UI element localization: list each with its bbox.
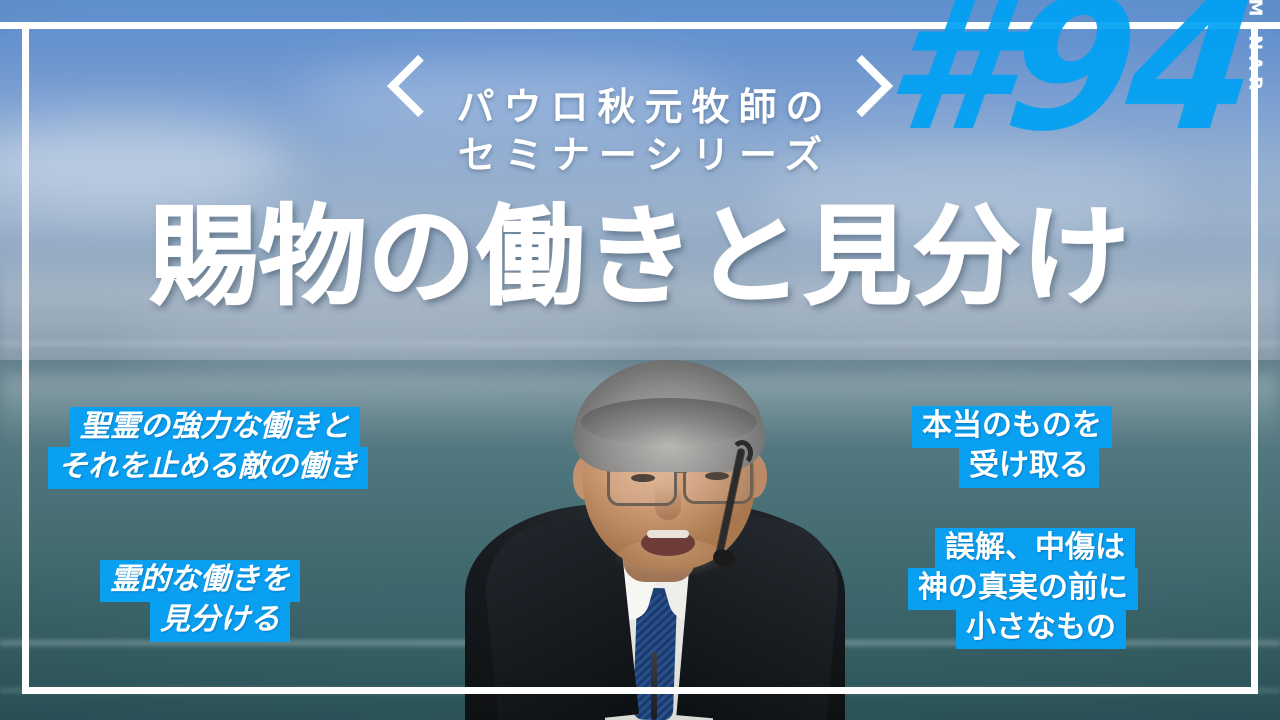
caption-spirit-work: 聖霊の強力な働きと それを止める敵の働き (70, 407, 368, 489)
caption-line: 本当のものを (912, 406, 1112, 448)
caption-line: 聖霊の強力な働きと (70, 407, 368, 449)
series-line-1: パウロ秋元牧師の (447, 84, 832, 132)
caption-line: 神の真実の前に (908, 568, 1138, 610)
angle-bracket-left-icon (383, 78, 421, 186)
series-title: パウロ秋元牧師の セミナーシリーズ (447, 84, 832, 180)
caption-line: 受け取る (912, 446, 1112, 488)
caption-line: 霊的な働きを (100, 560, 300, 602)
seminar-vertical-label: SEMINAR (1245, 0, 1266, 96)
jacket-zipper (651, 652, 657, 720)
caption-discern-spiritual-work: 霊的な働きを 見分ける (100, 560, 300, 642)
caption-receive-the-real: 本当のものを 受け取る (912, 406, 1112, 488)
episode-number: #94 (879, 0, 1260, 156)
thumbnail-canvas: #94 SEMINAR パウロ秋元牧師の セミナーシリーズ 賜物の働きと見分け … (0, 0, 1280, 720)
hair-shadow (581, 398, 757, 446)
page-title: 賜物の働きと見分け (0, 200, 1280, 317)
caption-line: それを止める敵の働き (48, 447, 368, 489)
caption-line: 小さなもの (908, 608, 1138, 650)
series-line-2: セミナーシリーズ (447, 132, 832, 180)
caption-line: 誤解、中傷は (908, 528, 1138, 570)
upper-teeth (647, 530, 689, 538)
caption-line: 見分ける (100, 600, 300, 642)
caption-misunderstanding-slander: 誤解、中傷は 神の真実の前に 小さなもの (908, 530, 1138, 649)
speaker-portrait (455, 352, 855, 720)
